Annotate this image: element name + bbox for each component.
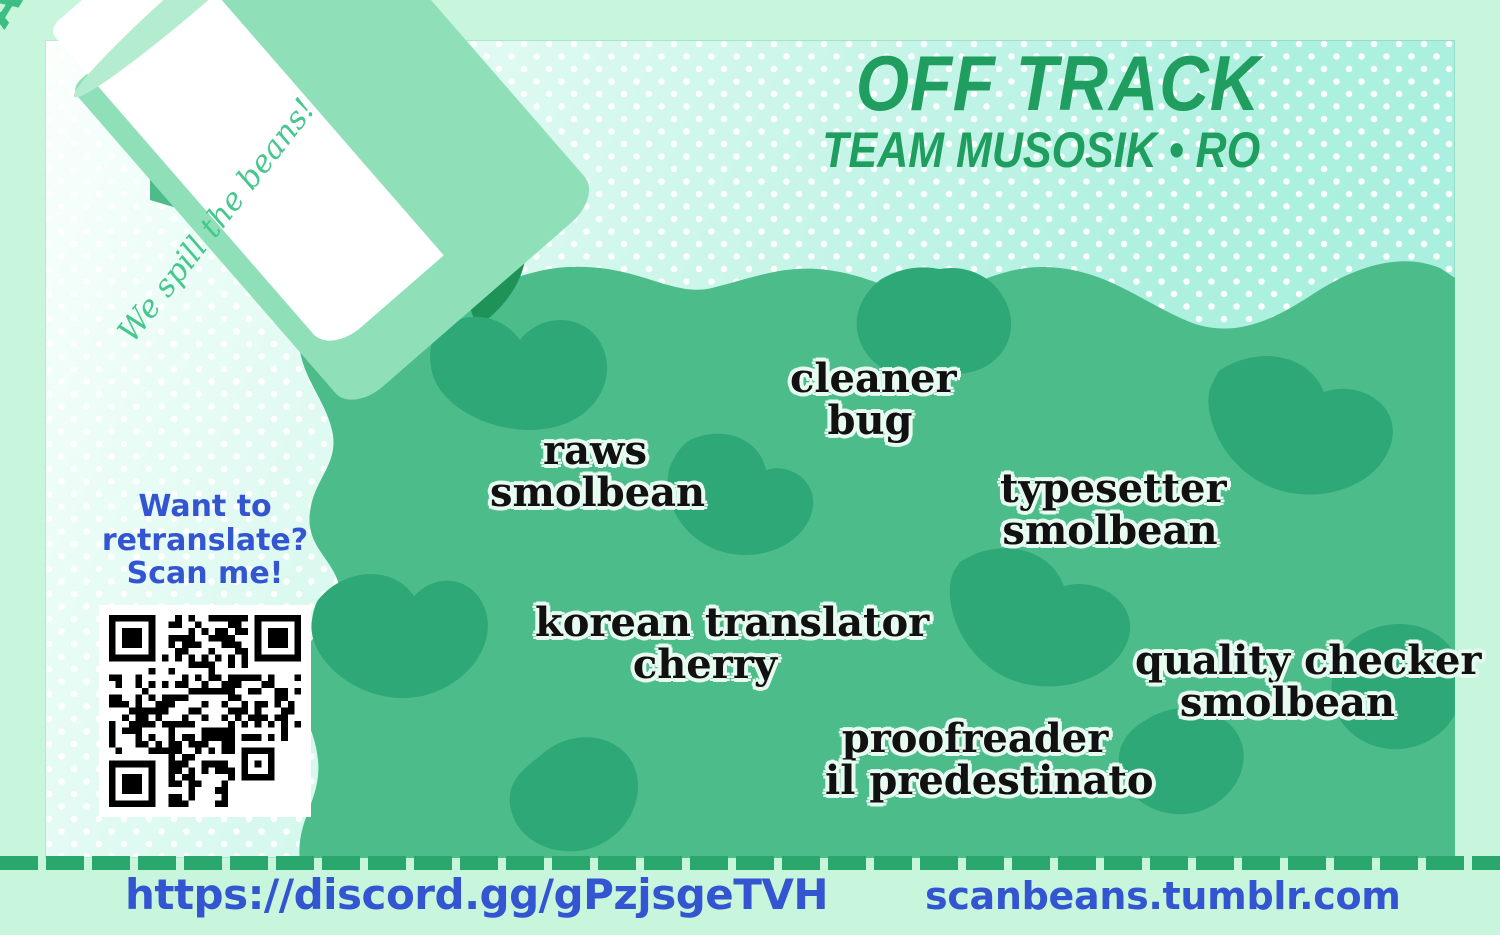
qr-caption: Want to retranslate? Scan me! <box>90 490 320 591</box>
credit-person: bug <box>790 400 950 442</box>
credit-person: smolbean <box>1000 510 1220 552</box>
credit-person: smolbean <box>1135 682 1440 724</box>
qr-caption-line-2: retranslate? <box>90 524 320 558</box>
discord-link[interactable]: https://discord.gg/gPzjsgeTVH <box>125 870 828 919</box>
credits-page: SCAN BEANS We spill the beans! OFF TRACK… <box>0 0 1500 935</box>
credit-cleaner: cleaner bug <box>790 358 950 442</box>
qr-block: Want to retranslate? Scan me! <box>90 490 320 817</box>
credit-person: il predestinato <box>825 760 1125 802</box>
scan-beans-can: SCAN BEANS We spill the beans! <box>0 0 550 480</box>
credit-proofreader: proofreader il predestinato <box>825 718 1125 802</box>
credit-person: smolbean <box>490 472 700 514</box>
qr-code-icon[interactable] <box>99 605 311 817</box>
credit-role: korean translator <box>535 602 875 644</box>
credit-role: raws <box>490 430 700 472</box>
credit-role: typesetter <box>1000 468 1220 510</box>
title-block: OFF TRACK TEAM MUSOSIK • RO <box>751 46 1260 177</box>
credit-role: quality checker <box>1135 640 1440 682</box>
tumblr-link[interactable]: scanbeans.tumblr.com <box>925 874 1401 918</box>
page-title: OFF TRACK <box>812 46 1260 120</box>
qr-caption-line-3: Scan me! <box>90 557 320 591</box>
credit-korean-translator: korean translator cherry <box>535 602 875 686</box>
credit-role: cleaner <box>790 358 950 400</box>
credit-typesetter: typesetter smolbean <box>1000 468 1220 552</box>
footer: https://discord.gg/gPzjsgeTVH scanbeans.… <box>0 866 1500 935</box>
page-subtitle: TEAM MUSOSIK • RO <box>822 124 1260 177</box>
credit-person: cherry <box>535 644 875 686</box>
qr-caption-line-1: Want to <box>90 490 320 524</box>
credit-quality-checker: quality checker smolbean <box>1135 640 1440 724</box>
credit-role: proofreader <box>825 718 1125 760</box>
credit-raws: raws smolbean <box>490 430 700 514</box>
